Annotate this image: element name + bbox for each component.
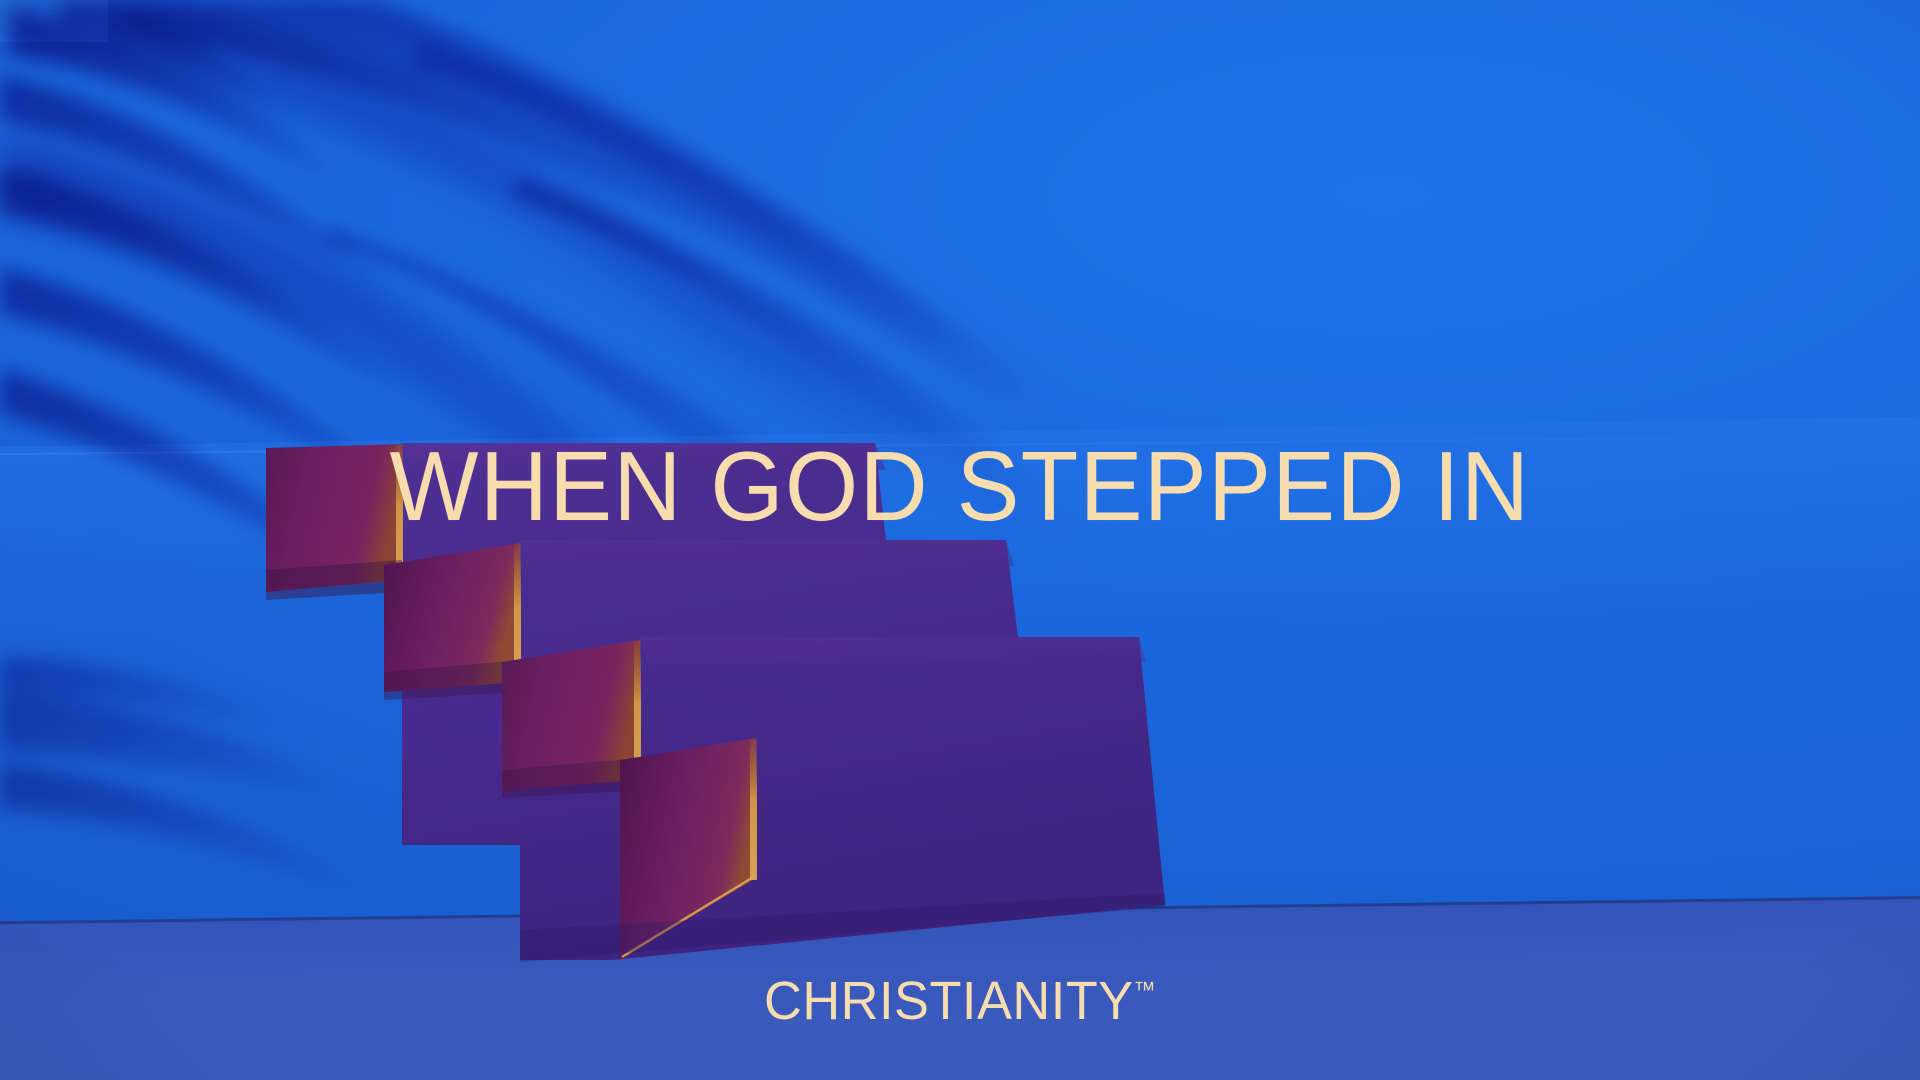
brand-word: CHRISTIANITY	[764, 971, 1134, 1031]
brand-lockup: CHRISTIANITY™	[0, 974, 1920, 1028]
brand-name: CHRISTIANITY™	[764, 974, 1156, 1028]
poster-canvas: WHEN GOD STEPPED IN CHRISTIANITY™	[0, 0, 1920, 1080]
page-title: WHEN GOD STEPPED IN	[38, 437, 1881, 535]
trademark-icon: ™	[1134, 976, 1156, 1002]
step-2	[384, 543, 521, 700]
